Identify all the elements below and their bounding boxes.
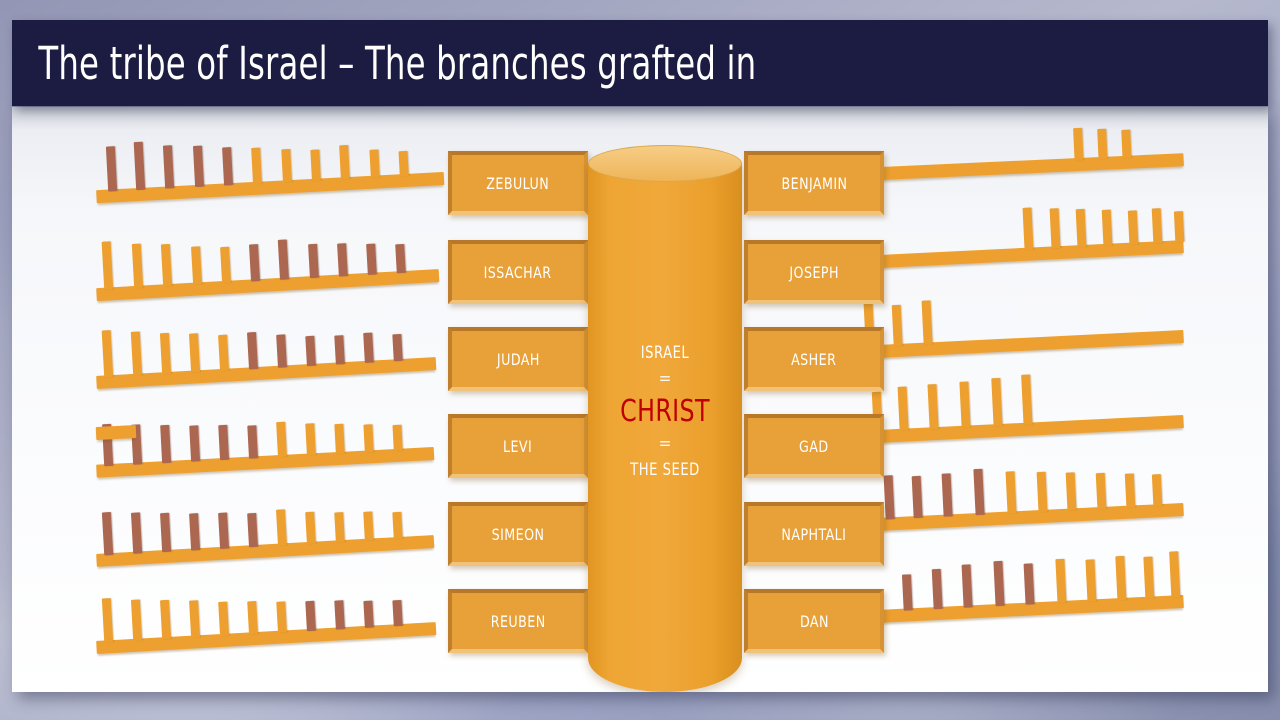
natural-twig	[1125, 473, 1136, 507]
grafted-twig	[902, 574, 913, 610]
natural-twig	[1143, 556, 1154, 598]
natural-twig	[1066, 472, 1077, 510]
tribe-label: ASHER	[791, 350, 836, 369]
grafted-twig	[993, 561, 1004, 606]
israel-christ-pillar: ISRAEL = CHRIST = THE SEED	[588, 145, 742, 692]
natural-twig	[1055, 559, 1066, 603]
pillar-text: ISRAEL = CHRIST = THE SEED	[588, 345, 742, 479]
tribe-label: DAN	[800, 612, 829, 631]
tribe-box-benjamin[interactable]: BENJAMIN	[744, 151, 884, 215]
natural-twig	[1115, 556, 1126, 600]
tribe-label: LEVI	[503, 437, 532, 456]
tribe-label: NAPHTALI	[782, 525, 847, 544]
grafted-twig	[912, 476, 923, 518]
natural-twig	[1023, 207, 1034, 249]
tribe-label: BENJAMIN	[781, 174, 847, 193]
tribe-box-dan[interactable]: DAN	[744, 589, 884, 653]
natural-twig	[1169, 551, 1180, 597]
grafted-twig	[1024, 563, 1035, 604]
tribe-box-issachar[interactable]: ISSACHAR	[448, 240, 588, 304]
tribe-label: GAD	[799, 437, 829, 456]
natural-twig	[1073, 128, 1083, 160]
natural-twig	[1102, 210, 1113, 246]
pillar-israel-label: ISRAEL	[599, 345, 731, 362]
natural-twig	[892, 305, 903, 346]
tribe-box-naphtali[interactable]: NAPHTALI	[744, 502, 884, 566]
natural-twig	[1097, 129, 1107, 159]
pillar-equals-2: =	[588, 436, 742, 453]
grafted-twig	[973, 469, 984, 515]
branch-stem	[836, 595, 1184, 625]
branch-right-2	[838, 240, 1184, 270]
natural-twig	[959, 381, 970, 427]
pillar-seed-label: THE SEED	[599, 462, 731, 479]
natural-twig	[1085, 559, 1096, 601]
pillar-top-ellipse	[588, 145, 742, 182]
branch-right-6	[836, 595, 1184, 625]
natural-twig	[1174, 211, 1185, 242]
tribe-label: ISSACHAR	[484, 263, 552, 282]
grafted-twig	[962, 564, 973, 607]
tribe-box-simeon[interactable]: SIMEON	[448, 502, 588, 566]
tribe-box-zebulun[interactable]: ZEBULUN	[448, 151, 588, 215]
page-title: The tribe of Israel – The branches graft…	[12, 37, 756, 90]
natural-twig	[1128, 210, 1139, 244]
natural-twig	[1152, 208, 1163, 243]
grafted-twig	[942, 473, 953, 516]
natural-twig	[1152, 474, 1163, 506]
tribe-box-joseph[interactable]: JOSEPH	[744, 240, 884, 304]
branch-right-1	[836, 153, 1184, 182]
tribe-label: REUBEN	[491, 612, 546, 631]
natural-twig	[898, 386, 909, 430]
branch-right-3	[836, 330, 1184, 360]
branch-stem	[836, 153, 1184, 182]
tribe-label: JUDAH	[497, 350, 540, 369]
branch-stem	[836, 330, 1184, 360]
tribe-label: ZEBULUN	[487, 174, 550, 193]
branch-right-4	[836, 415, 1184, 445]
natural-twig	[991, 378, 1002, 426]
pillar-christ-label: CHRIST	[597, 397, 733, 427]
slide-canvas: ZEBULUNISSACHARJUDAHLEVISIMEONREUBEN ISR…	[0, 0, 1280, 720]
natural-twig	[1037, 472, 1048, 512]
natural-twig	[1021, 374, 1032, 424]
grafted-twig	[932, 569, 943, 609]
branch-right-5	[836, 503, 1184, 533]
pillar-equals-1: =	[588, 371, 742, 388]
grafted-twig	[884, 475, 895, 519]
natural-twig	[1006, 471, 1017, 513]
natural-twig	[1050, 208, 1061, 248]
tribe-box-gad[interactable]: GAD	[744, 414, 884, 478]
tribe-label: SIMEON	[492, 525, 545, 544]
branch-stem	[836, 415, 1184, 445]
slide-title-bar: The tribe of Israel – The branches graft…	[12, 20, 1268, 106]
natural-twig	[1121, 130, 1131, 158]
natural-twig	[1096, 473, 1107, 509]
natural-twig	[1076, 209, 1087, 247]
tribe-label: JOSEPH	[789, 263, 839, 282]
natural-twig	[922, 300, 933, 344]
natural-twig	[927, 384, 938, 429]
slide-body: ZEBULUNISSACHARJUDAHLEVISIMEONREUBEN ISR…	[12, 107, 1268, 692]
tribe-box-judah[interactable]: JUDAH	[448, 327, 588, 391]
tribe-box-reuben[interactable]: REUBEN	[448, 589, 588, 653]
tribe-box-levi[interactable]: LEVI	[448, 414, 588, 478]
tribe-box-asher[interactable]: ASHER	[744, 327, 884, 391]
